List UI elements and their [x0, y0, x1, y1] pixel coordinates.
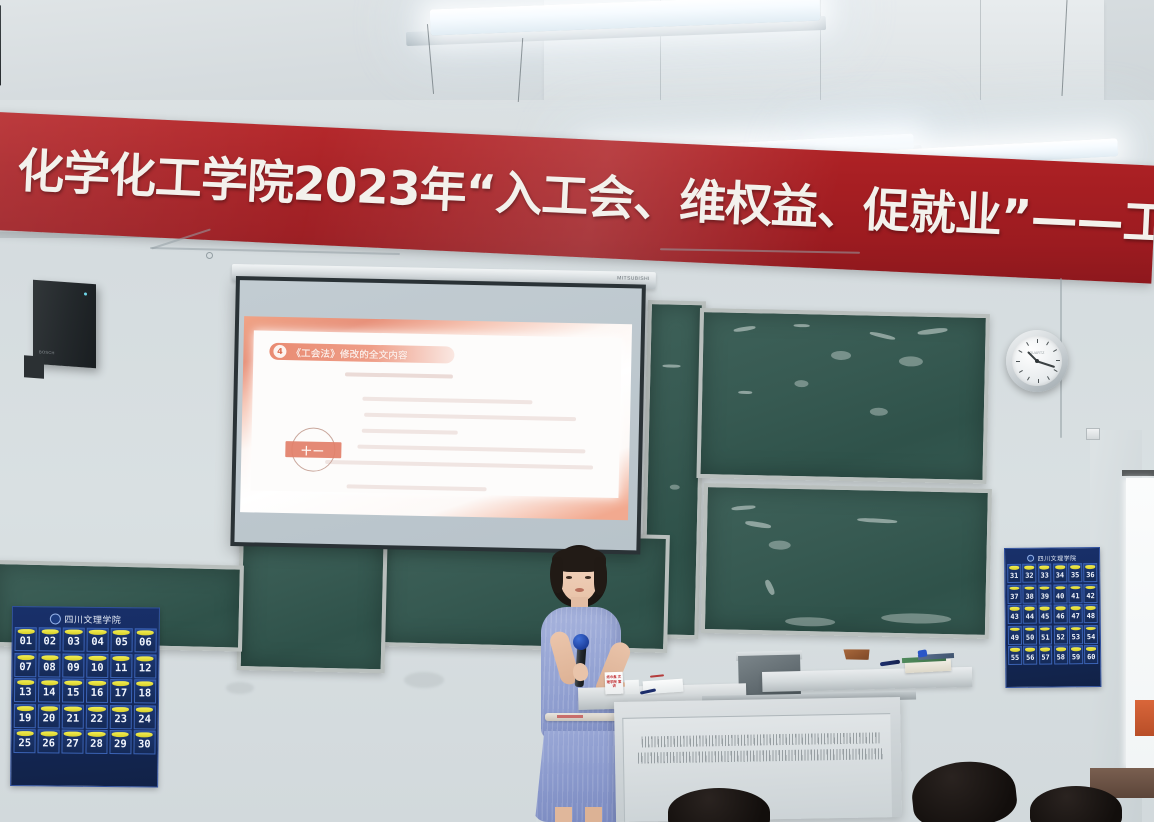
- presenter-leg-left: [555, 807, 572, 822]
- pocket-cell[interactable]: 50: [1023, 625, 1037, 644]
- pocket-cell[interactable]: 10: [86, 653, 109, 677]
- speaker-brand-label: BOSCH: [39, 349, 55, 355]
- presenter-eye-right: [585, 576, 591, 579]
- pocket-cell[interactable]: 31: [1007, 564, 1021, 583]
- clock-minute-hand: [1037, 360, 1056, 367]
- tissue-box: 纸巾盒 文理学院 宣讲: [605, 672, 624, 695]
- pocket-cell[interactable]: 43: [1008, 605, 1022, 624]
- chalk-mark: [731, 505, 755, 511]
- pocket-grid-left: 01 02 03 04 05 06 07 08 09 10 11 12 13 1…: [13, 627, 156, 754]
- slide-body-line: [362, 397, 532, 404]
- pocket-cell[interactable]: 27: [61, 730, 84, 754]
- pocket-cell[interactable]: 58: [1054, 645, 1068, 664]
- pocket-cell[interactable]: 14: [38, 678, 61, 702]
- slide-body-line: [347, 484, 487, 490]
- clock-tick: [1037, 339, 1038, 343]
- wall-stain: [404, 672, 444, 688]
- pocket-cell[interactable]: 21: [62, 704, 85, 728]
- school-seal-icon: [50, 613, 61, 624]
- projected-slide: 4 《工会法》修改的全文内容 十一: [240, 316, 632, 520]
- clock-tick: [1046, 341, 1049, 345]
- slide-body-line: [362, 429, 458, 435]
- slide-badge-group: 十一: [285, 427, 342, 474]
- pocket-cell[interactable]: 07: [14, 653, 37, 677]
- pocket-cell[interactable]: 05: [110, 628, 133, 652]
- presenter-skirt: [533, 731, 627, 822]
- chalk-mark: [869, 331, 895, 341]
- screen-brand-label: MITSUBISHI: [617, 275, 650, 282]
- chalk-mark: [662, 364, 680, 367]
- chalk-dust: [785, 617, 835, 627]
- speaker-side: [0, 3, 1, 86]
- chalk-mark: [738, 391, 752, 394]
- pocket-cell[interactable]: 54: [1084, 625, 1098, 644]
- pocket-cell[interactable]: 49: [1008, 625, 1022, 644]
- pocket-cell[interactable]: 37: [1007, 584, 1021, 603]
- pocket-cell[interactable]: 23: [109, 705, 132, 729]
- podium-vent: [642, 732, 880, 747]
- pocket-cell[interactable]: 11: [110, 654, 133, 678]
- pocket-cell[interactable]: 25: [13, 729, 36, 753]
- chalk-dust: [831, 351, 851, 360]
- wall-speaker: BOSCH: [33, 280, 96, 368]
- school-name-left: 四川文理学院: [64, 613, 121, 627]
- pocket-cell[interactable]: 15: [62, 679, 85, 703]
- clock-tick: [1018, 350, 1022, 353]
- pocket-cell[interactable]: 06: [134, 628, 157, 652]
- wall-stain: [226, 682, 254, 694]
- pocket-cell[interactable]: 24: [133, 705, 156, 729]
- chalk-dust: [870, 408, 888, 416]
- skirt-stripe-pattern: [533, 731, 627, 822]
- chalk-mark: [794, 324, 810, 327]
- clock-tick: [1027, 377, 1030, 381]
- pocket-cell[interactable]: 36: [1083, 563, 1097, 582]
- slide-title: 《工会法》修改的全文内容: [291, 345, 408, 361]
- podium-vent: [638, 748, 884, 763]
- screen-surface: 4 《工会法》修改的全文内容 十一: [234, 280, 641, 550]
- pocket-cell[interactable]: 30: [133, 730, 156, 754]
- projection-screen: 4 《工会法》修改的全文内容 十一: [230, 276, 646, 555]
- pocket-cell[interactable]: 20: [38, 704, 61, 728]
- clock-tick: [1054, 369, 1058, 372]
- slide-content-area: 4 《工会法》修改的全文内容 十一: [251, 330, 622, 498]
- pocket-cell[interactable]: 44: [1023, 605, 1037, 624]
- pocket-cell[interactable]: 18: [134, 679, 157, 703]
- pocket-cell[interactable]: 26: [37, 729, 60, 753]
- slide-heading-line: [345, 372, 453, 378]
- clock-tick: [1054, 349, 1058, 352]
- clock-tick: [1026, 342, 1029, 346]
- slide-body-line: [325, 460, 593, 469]
- pocket-cell[interactable]: 34: [1053, 563, 1067, 582]
- pocket-chart-header-right: 四川文理学院: [1007, 551, 1097, 564]
- presenter-hair-left: [550, 557, 563, 593]
- pocket-grid-right: 31 32 33 34 35 36 37 38 39 40 41 42 43 4…: [1007, 563, 1098, 665]
- clock-tick: [1047, 377, 1050, 381]
- pocket-cell[interactable]: 29: [109, 730, 132, 754]
- speaker-led-icon: [84, 292, 87, 295]
- clock-tick: [1016, 361, 1020, 362]
- chalk-dust: [769, 540, 791, 549]
- chalk-mark: [745, 520, 771, 529]
- pocket-cell[interactable]: 45: [1038, 605, 1052, 624]
- pocket-cell[interactable]: 08: [38, 653, 61, 677]
- clock-face: QUARTZ: [1012, 336, 1062, 386]
- slide-body-line: [357, 445, 585, 453]
- clock-tick: [1038, 380, 1039, 384]
- pocket-cell[interactable]: 39: [1038, 584, 1052, 603]
- chalk-dust: [881, 613, 951, 624]
- clock-tick: [1019, 370, 1023, 373]
- pocket-cell[interactable]: 03: [62, 628, 85, 652]
- slide-section-number: 4: [273, 345, 286, 358]
- clock-tick: [1057, 360, 1061, 361]
- orange-object: [1135, 700, 1154, 736]
- blackboard-panel: [701, 483, 992, 639]
- blackboard-panel: [696, 308, 989, 484]
- speaker-bracket: [24, 355, 44, 378]
- chalk-mark: [733, 325, 755, 332]
- wall-clock: QUARTZ: [1006, 330, 1068, 392]
- tissue-box-text: 纸巾盒 文理学院 宣讲: [606, 675, 621, 689]
- pocket-cell[interactable]: 01: [15, 627, 38, 651]
- presenter-leg-right: [585, 807, 602, 822]
- pocket-cell[interactable]: 55: [1008, 646, 1022, 665]
- small-box: [625, 680, 639, 694]
- pocket-cell[interactable]: 28: [85, 730, 108, 754]
- pocket-cell[interactable]: 51: [1038, 625, 1052, 644]
- presenter-eye-left: [566, 576, 572, 579]
- pocket-cell[interactable]: 53: [1069, 625, 1083, 644]
- school-name-right: 四川文理学院: [1038, 553, 1077, 562]
- phone-pocket-chart-left: 四川文理学院 01 02 03 04 05 06 07 08 09 10 11 …: [10, 606, 160, 788]
- pocket-cell[interactable]: 52: [1054, 625, 1068, 644]
- presenter-mouth: [575, 588, 584, 592]
- pocket-cell[interactable]: 19: [14, 704, 37, 728]
- pocket-cell[interactable]: 60: [1084, 645, 1098, 664]
- pocket-cell[interactable]: 13: [14, 678, 37, 702]
- pocket-cell[interactable]: 42: [1084, 584, 1098, 603]
- junction-box: [1086, 428, 1100, 440]
- pocket-cell[interactable]: 09: [62, 653, 85, 677]
- slide-badge-label: 十一: [285, 441, 341, 458]
- pocket-cell[interactable]: 47: [1069, 604, 1083, 623]
- chalk-dust: [794, 380, 808, 387]
- chalk-mark: [857, 518, 897, 524]
- classroom-photo-scene: 化学化工学院2023年“入工会、维权益、促就业”——工会知识宣讲活动 MITSU…: [0, 0, 1154, 822]
- school-seal-icon: [1028, 554, 1035, 561]
- slide-title-bar: 4 《工会法》修改的全文内容: [269, 343, 454, 364]
- pocket-cell[interactable]: 56: [1023, 646, 1037, 665]
- pocket-cell[interactable]: 22: [85, 704, 108, 728]
- pocket-cell[interactable]: 12: [134, 654, 157, 678]
- screen-mount-bracket: [206, 252, 213, 259]
- pocket-cell[interactable]: 38: [1023, 584, 1037, 603]
- pocket-cell[interactable]: 48: [1084, 604, 1098, 623]
- chalk-dust: [670, 485, 680, 490]
- chalk-mark: [917, 327, 947, 336]
- chalk-dust: [899, 356, 923, 367]
- pocket-chart-header-left: 四川文理学院: [15, 610, 157, 628]
- pocket-cell[interactable]: 46: [1053, 604, 1067, 623]
- pocket-cell[interactable]: 32: [1022, 564, 1036, 583]
- banner-text: 化学化工学院2023年“入工会、维权益、促就业”——工会知识宣讲活动: [16, 148, 1137, 247]
- pocket-cell[interactable]: 33: [1038, 564, 1052, 583]
- pocket-cell[interactable]: 17: [110, 679, 133, 703]
- clock-center-pin: [1035, 359, 1039, 363]
- pocket-cell[interactable]: 04: [86, 628, 109, 652]
- microphone-head-icon: [573, 634, 589, 650]
- doorway-header: [1122, 470, 1154, 476]
- slide-body-line: [364, 413, 576, 421]
- pocket-cell[interactable]: 40: [1053, 584, 1067, 603]
- phone-pocket-chart-right: 四川文理学院 31 32 33 34 35 36 37 38 39 40 41 …: [1004, 547, 1101, 688]
- chalk-mark: [764, 579, 776, 596]
- pocket-cell[interactable]: 02: [38, 627, 61, 651]
- presenter-belt-accent: [557, 715, 583, 718]
- pocket-cell[interactable]: 16: [86, 679, 109, 703]
- pocket-cell[interactable]: 41: [1068, 584, 1082, 603]
- pocket-cell[interactable]: 59: [1069, 645, 1083, 664]
- ceiling-seam: [980, 0, 981, 116]
- pocket-cell[interactable]: 57: [1039, 645, 1053, 664]
- pocket-cell[interactable]: 35: [1068, 563, 1082, 582]
